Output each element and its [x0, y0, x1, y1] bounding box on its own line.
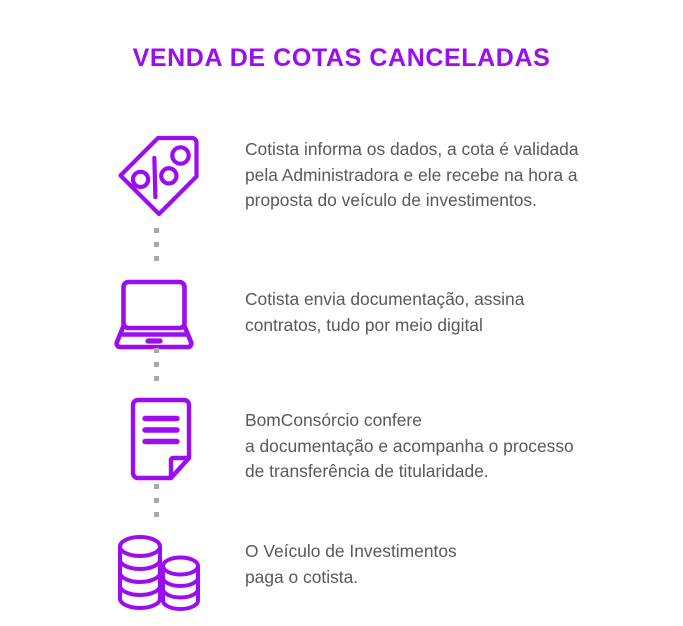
step-item: BomConsórcio confere a documentação e ac…: [0, 388, 683, 498]
step-description: BomConsórcio confere a documentação e ac…: [245, 408, 675, 485]
connector-dot: [154, 484, 159, 489]
step-description: Cotista envia documentação, assina contr…: [245, 287, 675, 338]
coin-stacks-icon: [112, 528, 204, 620]
connector-dot: [154, 228, 159, 233]
connector-dots: [152, 348, 160, 381]
step-item: Cotista informa os dados, a cota é valid…: [0, 118, 683, 228]
step-description: Cotista informa os dados, a cota é valid…: [245, 137, 675, 214]
connector-dots: [152, 484, 160, 517]
price-tag-percent-icon: [112, 134, 204, 226]
step-description: O Veículo de Investimentos paga o cotist…: [245, 539, 675, 590]
connector-dot: [154, 348, 159, 353]
connector-dots: [152, 228, 160, 261]
infographic-root: VENDA DE COTAS CANCELADAS Cotis: [0, 0, 683, 602]
laptop-icon: [108, 268, 200, 360]
connector-dot: [154, 362, 159, 367]
document-lines-icon: [115, 396, 207, 488]
step-item: Cotista envia documentação, assina contr…: [0, 258, 683, 368]
connector-dot: [154, 242, 159, 247]
connector-dot: [154, 376, 159, 381]
page-title: VENDA DE COTAS CANCELADAS: [0, 44, 683, 73]
step-item: O Veículo de Investimentos paga o cotist…: [0, 516, 683, 626]
connector-dot: [154, 256, 159, 261]
connector-dot: [154, 512, 159, 517]
connector-dot: [154, 498, 159, 503]
